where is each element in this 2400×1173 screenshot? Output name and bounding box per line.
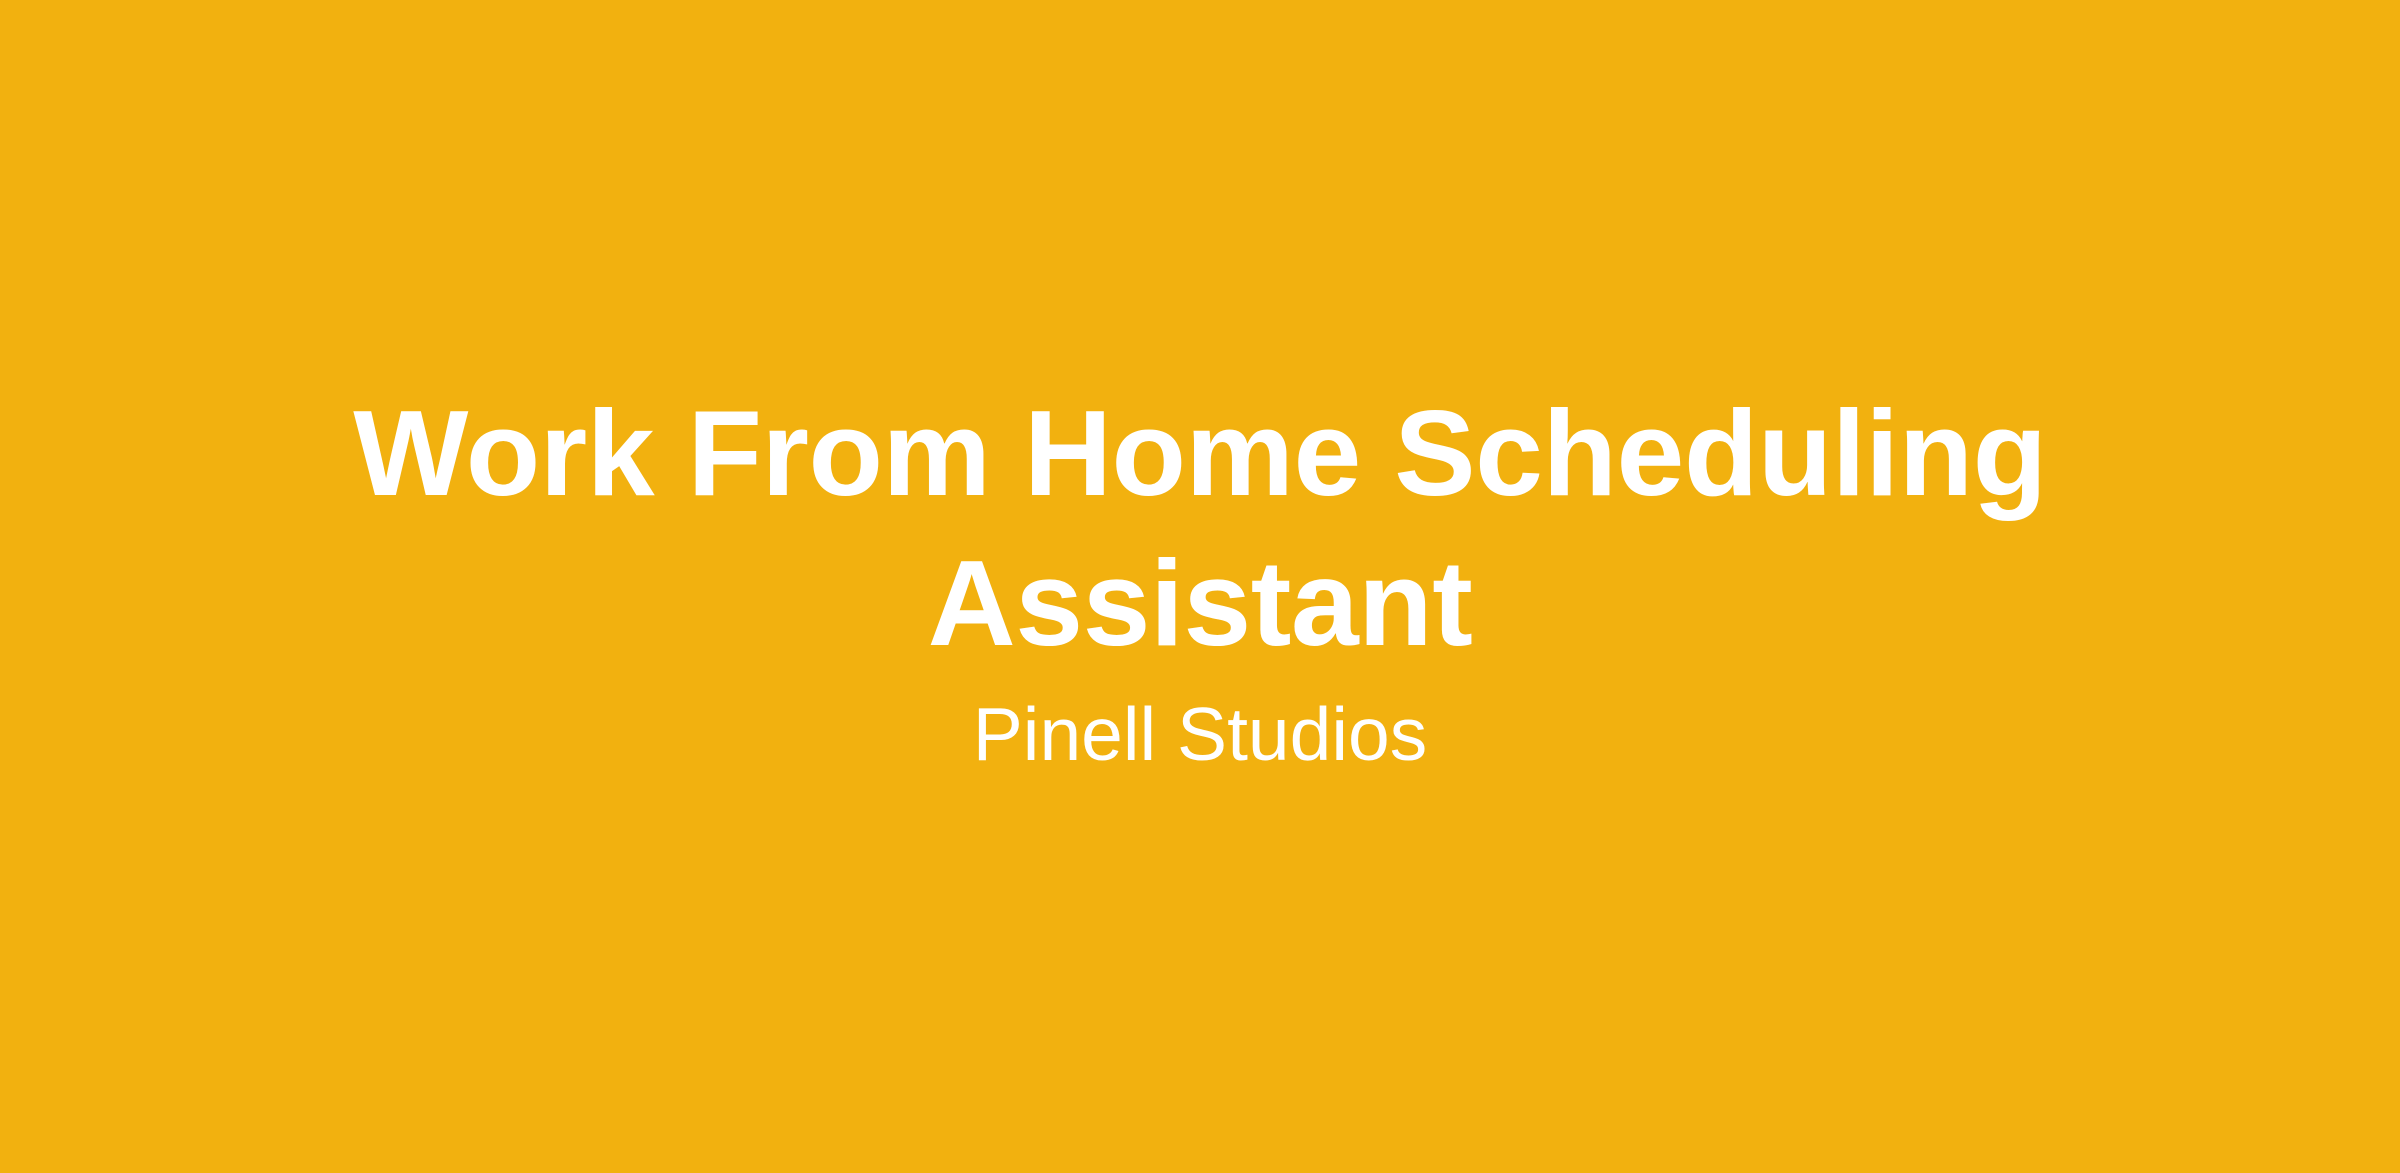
- title-block: Work From Home Scheduling Assistant Pine…: [300, 378, 2100, 790]
- page-title: Work From Home Scheduling Assistant: [300, 378, 2100, 678]
- title-slide: Work From Home Scheduling Assistant Pine…: [0, 0, 2400, 1173]
- page-subtitle: Pinell Studios: [300, 678, 2100, 790]
